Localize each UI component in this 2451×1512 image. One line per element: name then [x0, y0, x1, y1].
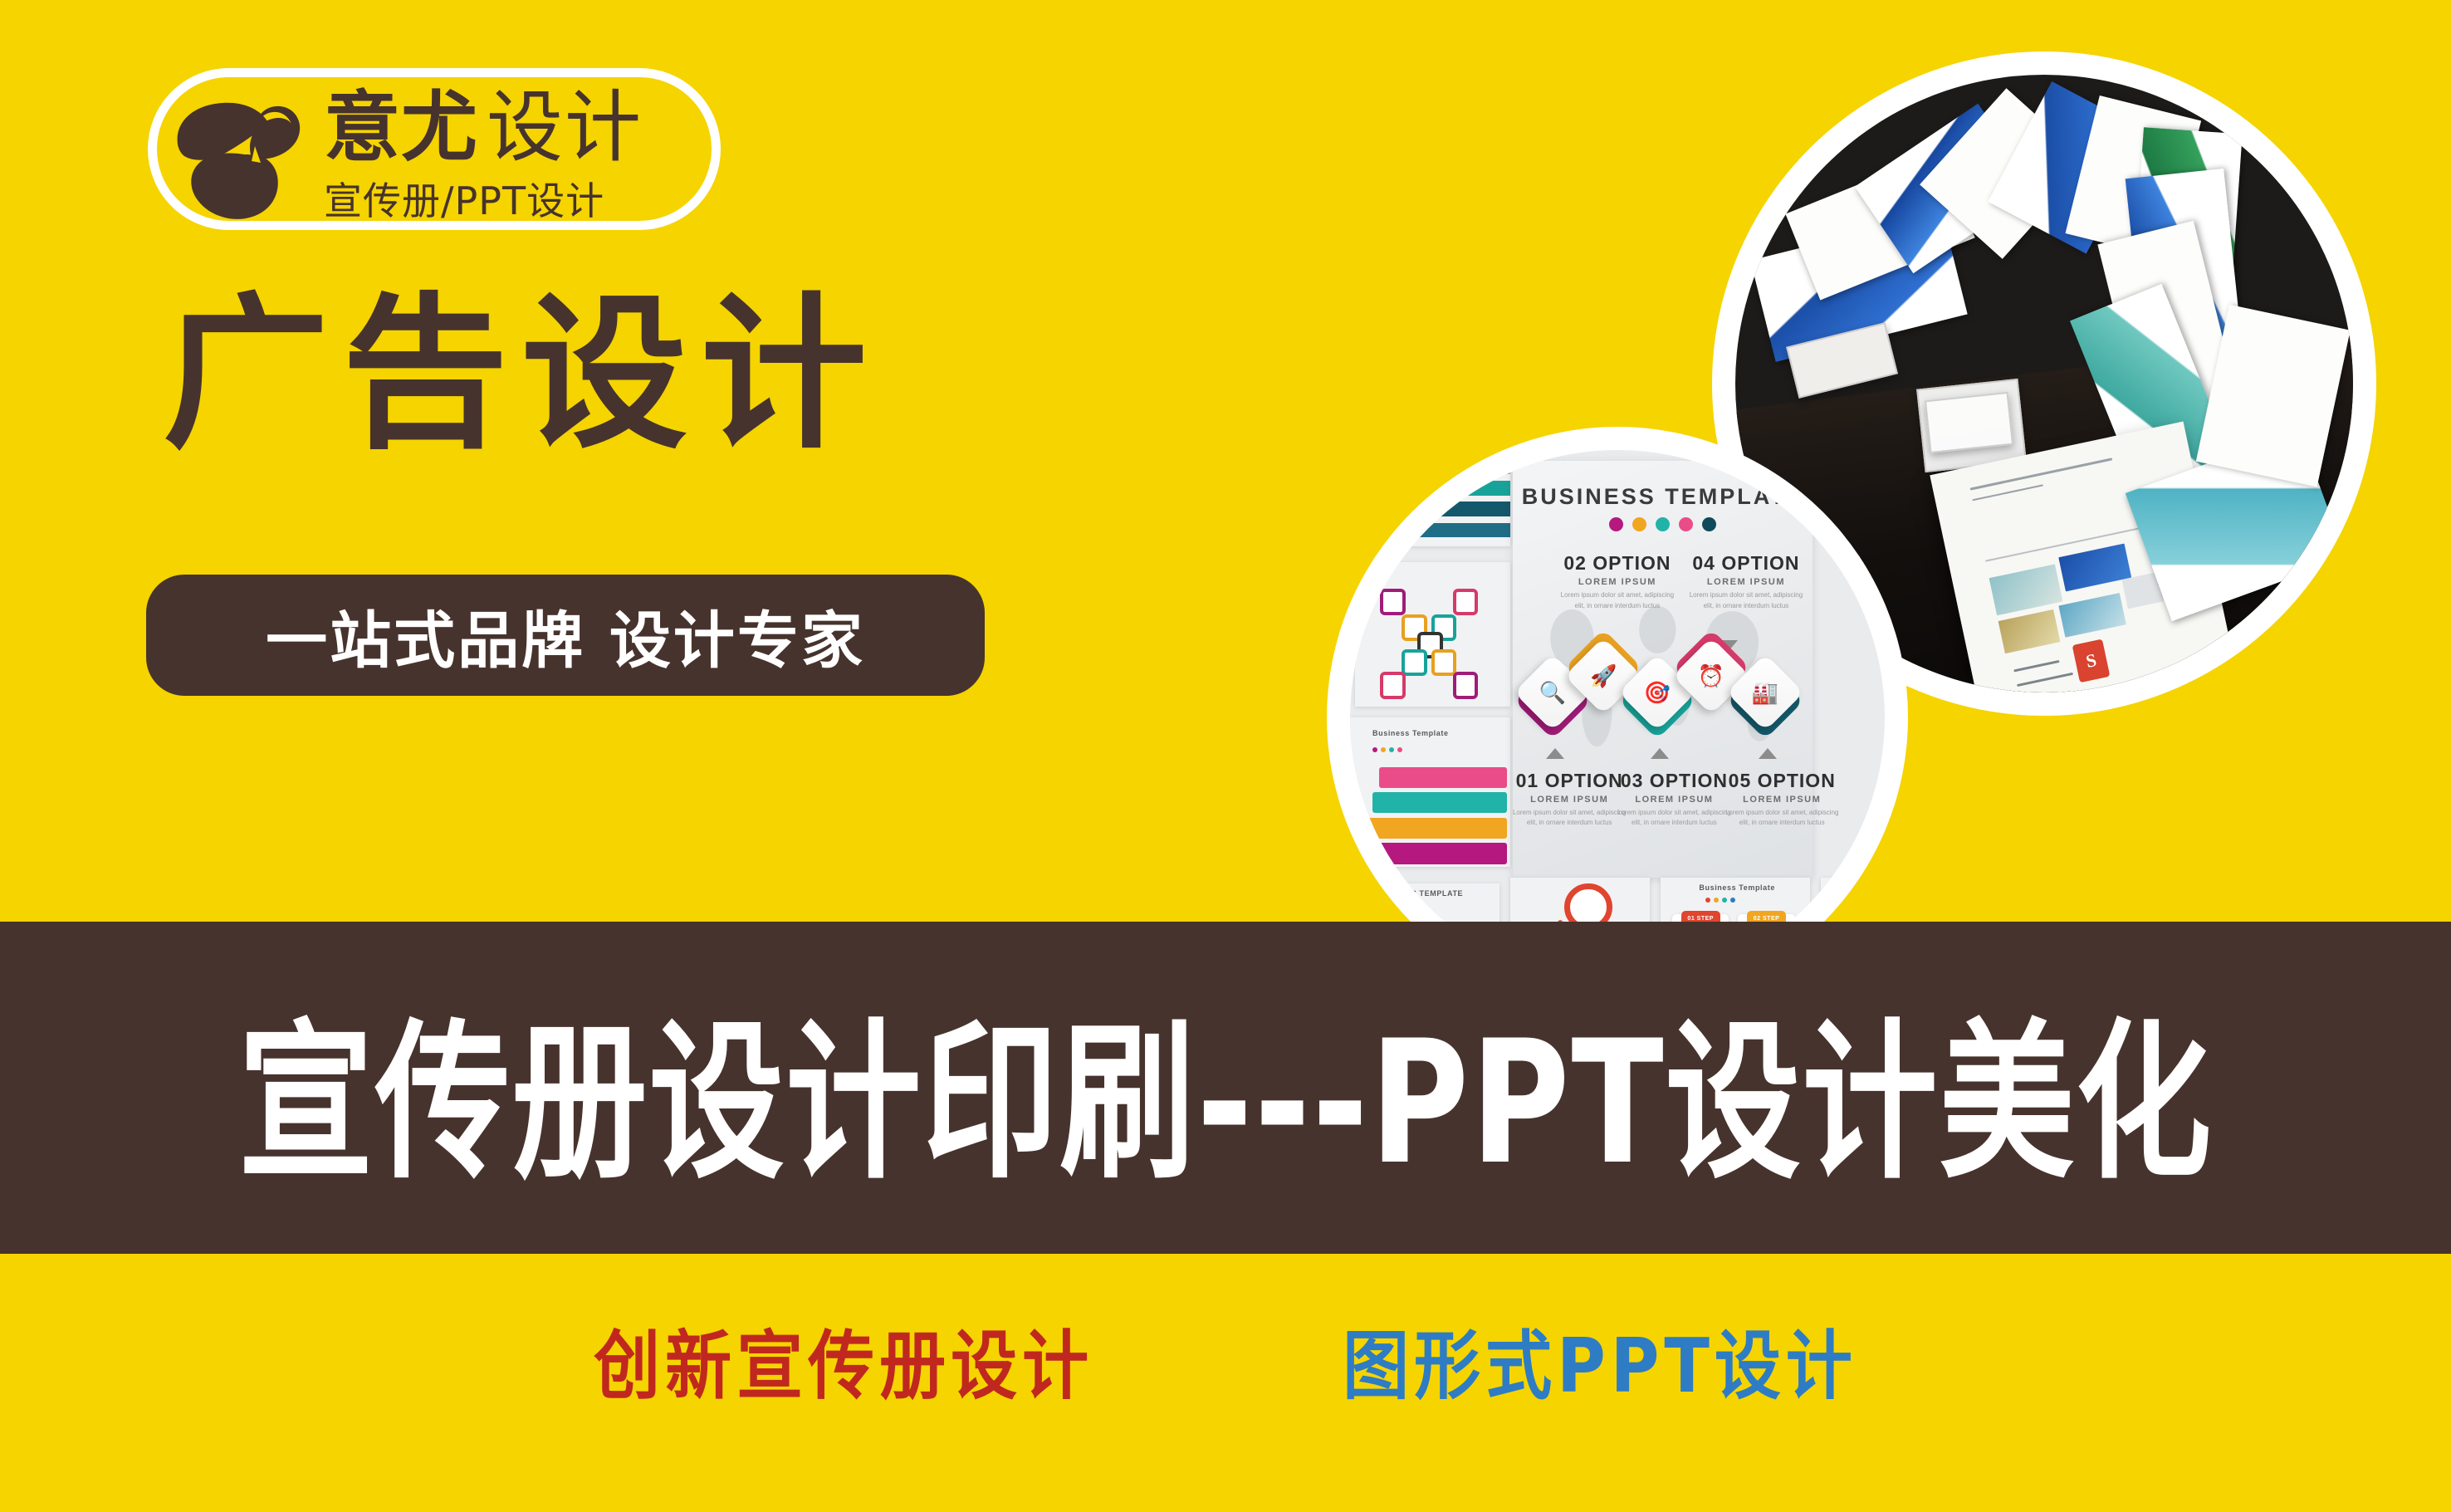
option-number: 05 OPTION: [1720, 770, 1844, 792]
footer-tag-brochure[interactable]: 创新宣传册设计: [594, 1306, 1093, 1414]
list-item: [1355, 562, 1510, 707]
badge-label: 一站式品牌 设计专家: [266, 591, 865, 680]
thumb-title: Business Template: [1699, 883, 1775, 892]
thumb-title: BUSINESS TEMPLATE: [1375, 889, 1464, 898]
page-title: 广告设计: [163, 292, 880, 458]
footer-tag-ppt[interactable]: 图形式PPT设计: [1343, 1306, 1857, 1414]
logo-wordmark: 意尤 设计 宣传册/PPT设计: [324, 73, 706, 223]
slide-dot-row: [1513, 517, 1813, 531]
list-item: [1361, 450, 1510, 546]
option-sub: LOREM IPSUM: [1684, 577, 1808, 587]
thumb-title: Business: [1834, 885, 1871, 893]
option-sub: LOREM IPSUM: [1720, 795, 1844, 805]
footer-tags: 创新宣传册设计 图形式PPT设计: [0, 1254, 2451, 1512]
leaf-bird-mark-icon: [166, 75, 311, 223]
option-sub: LOREM IPSUM: [1555, 577, 1680, 587]
option-number: 02 OPTION: [1555, 552, 1680, 575]
option-number: 03 OPTION: [1612, 770, 1736, 792]
main-banner-bar: 宣传册设计印刷---PPT设计美化: [0, 922, 2451, 1254]
brand-logo[interactable]: 意尤 设计 宣传册/PPT设计: [148, 68, 721, 230]
option-diamond: 🏭: [1738, 665, 1793, 720]
logo-brand-light: 设计: [487, 89, 643, 167]
option-number: 04 OPTION: [1684, 552, 1808, 575]
option-body: Lorem ipsum dolor sit amet, adipiscing e…: [1720, 808, 1844, 829]
logo-brand-bold: 意尤: [324, 90, 478, 166]
slide-title: BUSINESS TEMPLATE: [1513, 484, 1813, 510]
option-body: Lorem ipsum dolor sit amet, adipiscing e…: [1612, 808, 1736, 829]
option-sub: LOREM IPSUM: [1612, 795, 1736, 805]
thumb-title: Business Template: [1372, 729, 1449, 737]
brochure-stamp: S: [2072, 639, 2110, 683]
option-body: Lorem ipsum dolor sit amet, adipiscing e…: [1684, 590, 1808, 611]
banner-canvas: 意尤 设计 宣传册/PPT设计 广告设计 一站式品牌 设计专家: [0, 0, 2451, 1512]
ppt-template-circle: Business Template BUSINESS TEMPLATE: [1350, 450, 1885, 985]
banner-headline: 宣传册设计印刷---PPT设计美化: [238, 965, 2213, 1211]
list-item: Business Template: [1350, 717, 1510, 867]
option-body: Lorem ipsum dolor sit amet, adipiscing e…: [1555, 590, 1680, 611]
logo-tagline: 宣传册/PPT设计: [324, 171, 706, 226]
status-badge: 一站式品牌 设计专家: [146, 575, 985, 696]
ppt-main-slide: BUSINESS TEMPLATE 02 OPTION LOREM IPSUM …: [1513, 461, 1813, 878]
